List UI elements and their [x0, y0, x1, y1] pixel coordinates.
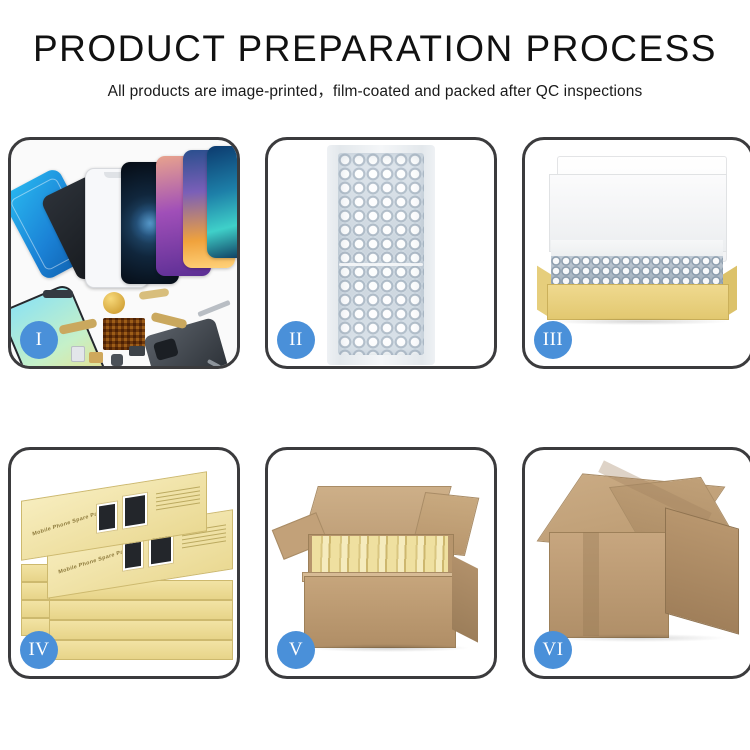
retail-box-stack: Mobile Phone Spare Parts Mo — [19, 468, 235, 664]
page-subtitle: All products are image-printed，film-coat… — [0, 79, 750, 101]
sealed-carton-shadow — [555, 634, 725, 642]
step-card-6: VI — [522, 447, 750, 679]
step-card-5: V — [265, 447, 497, 679]
sealed-carton-side — [665, 507, 739, 634]
retail-box-1-screen-b — [122, 492, 148, 530]
carton-front-panel — [304, 576, 456, 648]
tweezers-icon — [197, 300, 230, 317]
infographic-page: PRODUCT PREPARATION PROCESS All products… — [0, 0, 750, 750]
carton-shadow — [308, 644, 468, 652]
part-small-3-icon — [111, 354, 123, 366]
flex-cable-b-icon — [150, 312, 187, 329]
phone-teal-icon — [207, 146, 237, 258]
step-badge-5: V — [277, 631, 315, 669]
bubble-wrap-sleeve — [327, 145, 435, 365]
bubble-wrap-icon — [338, 153, 424, 355]
inner-box-shadow — [551, 318, 727, 325]
step-card-3: III — [522, 137, 750, 369]
retail-box-slab-r4 — [49, 640, 233, 660]
step-card-1: I — [8, 137, 240, 369]
part-small-1-icon — [71, 346, 85, 362]
step-badge-6: VI — [534, 631, 572, 669]
gold-chip-icon — [103, 292, 125, 314]
sealed-carton-front — [549, 532, 669, 638]
part-small-2-icon — [89, 352, 103, 363]
page-title: PRODUCT PREPARATION PROCESS — [0, 30, 750, 69]
carton-side-panel — [452, 555, 478, 642]
step-card-2: II — [265, 137, 497, 369]
flex-cable-c-icon — [139, 288, 170, 300]
step-badge-1: I — [20, 321, 58, 359]
retail-box-slab-r3 — [49, 620, 233, 640]
retail-box-1-spec-lines — [156, 483, 200, 513]
sealed-carton-tape-front — [583, 532, 599, 636]
step-badge-4: IV — [20, 631, 58, 669]
part-small-4-icon — [129, 346, 145, 356]
step-badge-3: III — [534, 321, 572, 359]
battery-connector-icon — [43, 290, 73, 298]
bubble-wrap-seam — [339, 263, 423, 266]
process-steps-grid: I II III — [8, 137, 742, 679]
step-badge-2: II — [277, 321, 315, 359]
retail-box-1-label: Mobile Phone Spare Parts — [32, 509, 106, 538]
inner-box-front — [547, 284, 729, 320]
retail-box-1-screen-a — [96, 500, 118, 533]
retail-box-slab-r2 — [49, 600, 233, 620]
step-card-4: Mobile Phone Spare Parts Mo — [8, 447, 240, 679]
bubble-wrapped-contents — [551, 256, 723, 286]
header: PRODUCT PREPARATION PROCESS All products… — [0, 0, 750, 101]
